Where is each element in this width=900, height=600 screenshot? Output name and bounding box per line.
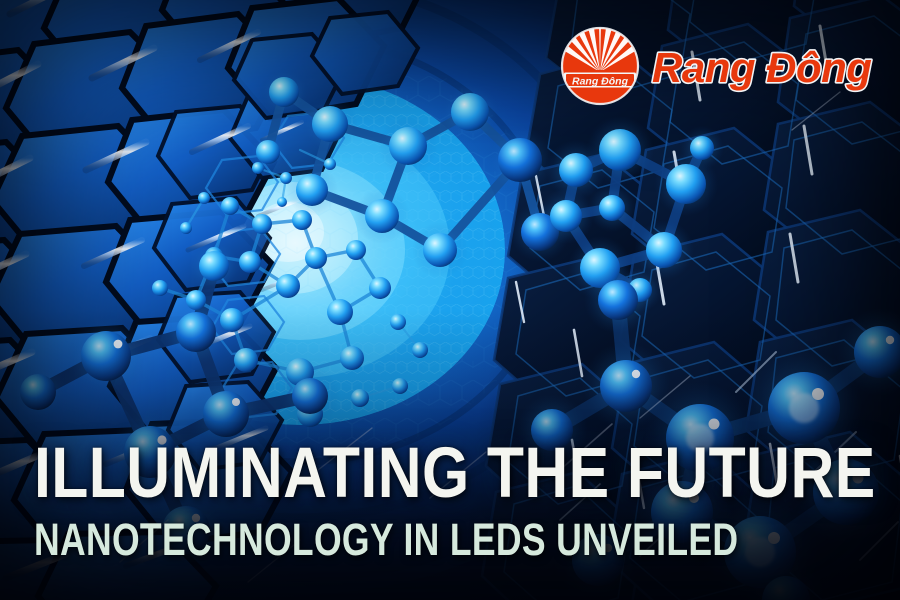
hero-banner: Rang Đông Rang Đông ILLUMINATING THE FUT… xyxy=(0,0,900,600)
page-subtitle: NANOTECHNOLOGY IN LEDS UNVEILED xyxy=(34,517,603,562)
brand-wordmark-text: Rang Đông xyxy=(652,44,871,91)
brand-wordmark: Rang Đông xyxy=(650,42,876,94)
page-title: ILLUMINATING THE FUTURE xyxy=(34,441,650,508)
brand-lockup[interactable]: Rang Đông Rang Đông xyxy=(560,20,880,116)
brand-mark-label: Rang Đông xyxy=(572,75,629,87)
headline-block: ILLUMINATING THE FUTURE NANOTECHNOLOGY I… xyxy=(34,441,754,562)
sunburst-circle-icon: Rang Đông xyxy=(560,26,640,106)
